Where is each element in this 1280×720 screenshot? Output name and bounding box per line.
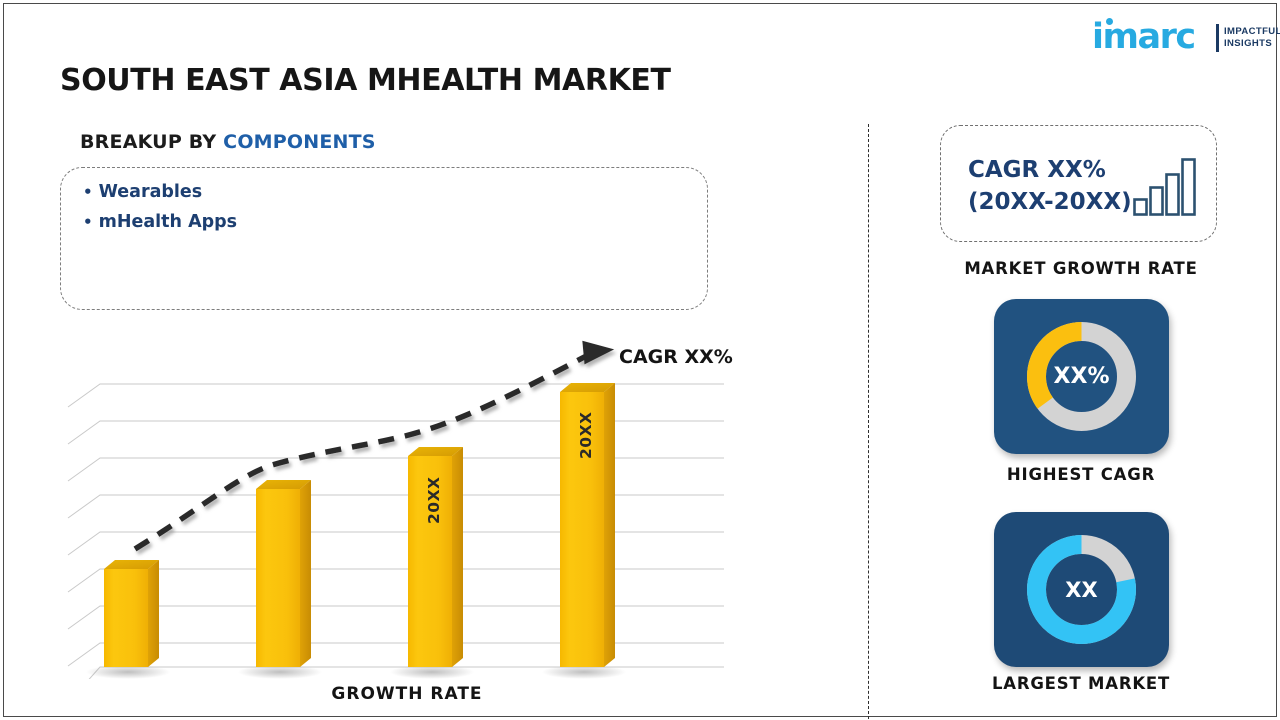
market-growth-rate-caption: MARKET GROWTH RATE	[921, 259, 1241, 278]
growth-rate-bar-chart: 20XX 20XX CAGR XX% GROWTH RATE	[60, 334, 760, 714]
list-item-label: mHealth Apps	[99, 212, 238, 232]
market-growth-rate-box: CAGR XX% (20XX-20XX)	[940, 125, 1217, 242]
bar-label-3: 20XX	[425, 477, 443, 524]
list-item: •mHealth Apps	[83, 212, 237, 232]
list-item-label: Wearables	[99, 182, 203, 202]
highest-cagr-donut	[1019, 306, 1144, 447]
bullet-icon: •	[83, 213, 93, 231]
subtitle-highlight: COMPONENTS	[223, 131, 376, 153]
bar-chart-icon	[1133, 156, 1199, 216]
section-subtitle: BREAKUP BY COMPONENTS	[80, 131, 376, 153]
cagr-line-2: (20XX-20XX)	[968, 186, 1132, 218]
highest-cagr-card: XX%	[994, 299, 1169, 454]
vertical-divider	[868, 124, 869, 719]
cagr-trendline	[135, 340, 614, 549]
components-list-box: •Wearables •mHealth Apps	[60, 167, 708, 310]
imarc-logo: imarc IMPACTFUL INSIGHTS	[1092, 16, 1268, 56]
chart-svg	[60, 334, 760, 679]
cagr-callout-label: CAGR XX%	[619, 346, 733, 368]
bullet-icon: •	[83, 183, 93, 201]
page-title: SOUTH EAST ASIA MHEALTH MARKET	[60, 63, 671, 98]
logo-divider	[1216, 24, 1219, 52]
bar-1	[104, 560, 159, 667]
logo-tagline-line2: INSIGHTS	[1224, 38, 1280, 50]
largest-market-card: XX	[994, 512, 1169, 667]
x-axis-label: GROWTH RATE	[292, 684, 522, 704]
subtitle-prefix: BREAKUP BY	[80, 131, 223, 153]
logo-tagline: IMPACTFUL INSIGHTS	[1224, 26, 1280, 50]
list-item: •Wearables	[83, 182, 202, 202]
logo-wordmark: imarc	[1092, 20, 1195, 55]
bar-2	[256, 480, 311, 667]
infographic-page: imarc IMPACTFUL INSIGHTS SOUTH EAST ASIA…	[3, 3, 1277, 717]
largest-market-donut	[1019, 519, 1144, 660]
logo-tagline-line1: IMPACTFUL	[1224, 26, 1280, 38]
highest-cagr-caption: HIGHEST CAGR	[921, 465, 1241, 484]
largest-market-caption: LARGEST MARKET	[921, 674, 1241, 693]
cagr-line-1: CAGR XX%	[968, 154, 1132, 186]
cagr-value-text: CAGR XX% (20XX-20XX)	[968, 154, 1132, 218]
bar-label-4: 20XX	[577, 412, 595, 459]
